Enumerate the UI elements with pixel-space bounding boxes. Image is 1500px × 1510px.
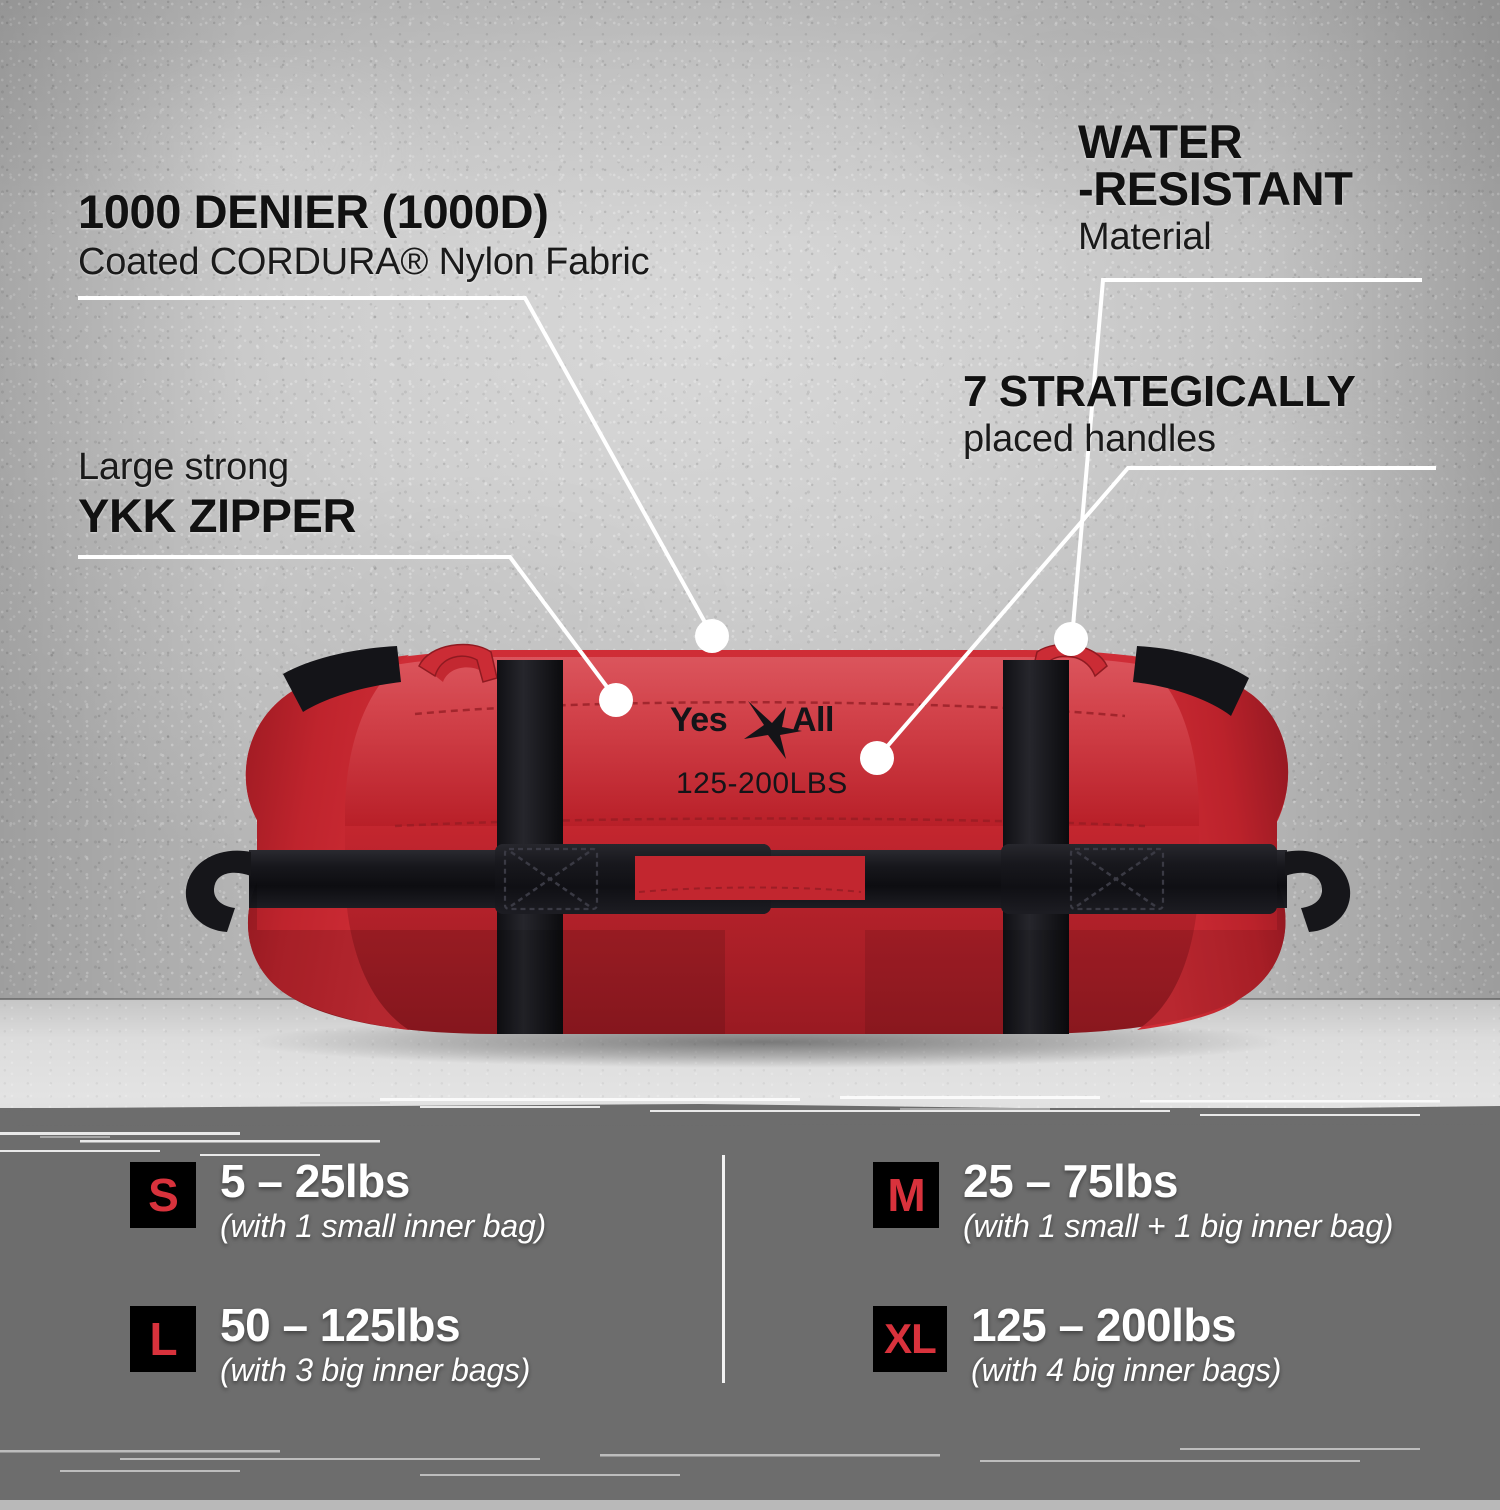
callout-water-resistant: WATER -RESISTANT Material	[1078, 118, 1353, 258]
size-note-m: (with 1 small + 1 big inner bag)	[963, 1209, 1393, 1245]
side-handle-left	[186, 851, 251, 932]
callout-zipper-headline: YKK ZIPPER	[78, 492, 356, 539]
callout-water-headline-line1: WATER	[1078, 115, 1242, 168]
grip-pad-right	[1001, 844, 1277, 914]
callout-water-subline: Material	[1078, 218, 1353, 258]
size-row-s: S 5 – 25lbs (with 1 small inner bag)	[130, 1158, 785, 1302]
zipper-flap-tab	[635, 856, 865, 900]
callout-zipper-subline: Large strong	[78, 448, 356, 488]
size-badge-xl: XL	[873, 1306, 947, 1372]
size-note-l: (with 3 big inner bags)	[220, 1353, 530, 1389]
callout-water-headline-line2: -RESISTANT	[1078, 165, 1353, 212]
infographic-stage: Yes All 125-200LBS	[0, 0, 1500, 1500]
size-note-xl: (with 4 big inner bags)	[971, 1353, 1281, 1389]
size-row-m: M 25 – 75lbs (with 1 small + 1 big inner…	[785, 1158, 1440, 1302]
logo-text-all: All	[792, 701, 834, 739]
callout-handles: 7 STRATEGICALLY placed handles	[963, 370, 1356, 460]
size-note-s: (with 1 small inner bag)	[220, 1209, 546, 1245]
callout-water-headline: WATER -RESISTANT	[1078, 118, 1353, 212]
callout-denier-headline: 1000 DENIER (1000D)	[78, 188, 649, 235]
size-badge-s: S	[130, 1162, 196, 1228]
size-chart-banner: S 5 – 25lbs (with 1 small inner bag) M 2…	[0, 1108, 1500, 1500]
callout-zipper: Large strong YKK ZIPPER	[78, 448, 356, 539]
size-range-l: 50 – 125lbs	[220, 1302, 530, 1350]
sandbag-illustration: Yes All 125-200LBS	[165, 630, 1350, 1055]
size-badge-l: L	[130, 1306, 196, 1372]
size-range-xl: 125 – 200lbs	[971, 1302, 1281, 1350]
bag-weight-print: 125-200LBS	[676, 767, 848, 800]
callout-handles-subline: placed handles	[963, 420, 1356, 460]
logo-text-yes: Yes	[670, 701, 727, 739]
size-chart-grid: S 5 – 25lbs (with 1 small inner bag) M 2…	[0, 1108, 1500, 1500]
size-badge-m: M	[873, 1162, 939, 1228]
callout-denier-subline: Coated CORDURA® Nylon Fabric	[78, 243, 649, 283]
callout-handles-headline: 7 STRATEGICALLY	[963, 370, 1356, 414]
size-row-l: L 50 – 125lbs (with 3 big inner bags)	[130, 1302, 785, 1446]
side-handle-right	[1285, 851, 1350, 932]
sandbag-product-image: Yes All 125-200LBS	[165, 630, 1350, 1055]
callout-denier: 1000 DENIER (1000D) Coated CORDURA® Nylo…	[78, 188, 649, 283]
size-row-xl: XL 125 – 200lbs (with 4 big inner bags)	[785, 1302, 1440, 1446]
size-range-s: 5 – 25lbs	[220, 1158, 546, 1206]
size-range-m: 25 – 75lbs	[963, 1158, 1393, 1206]
bag-top-highlight	[254, 657, 1280, 826]
